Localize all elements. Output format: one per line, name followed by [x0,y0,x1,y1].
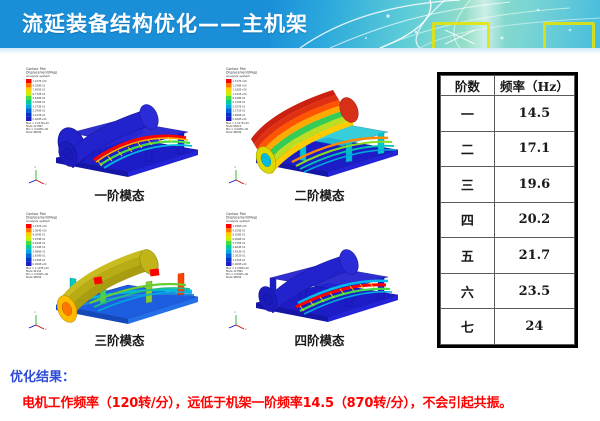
fea-plot-mode-3: Contour Plot Displacement(Mag) Analysis … [22,207,217,332]
frequency-table-grid: 阶数 频率（Hz） 一 14.5 二 17.1 三 19.6 四 20.2 五 [440,75,575,345]
svg-text:4.604E-01: 4.604E-01 [233,245,246,249]
svg-text:0.000E+00: 0.000E+00 [233,117,247,121]
cell-frequency: 14.5 [494,96,574,132]
cell-frequency: 21.7 [494,238,574,274]
svg-text:9.309E-01: 9.309E-01 [33,233,46,237]
svg-text:3.453E-01: 3.453E-01 [233,249,246,253]
svg-text:z: z [235,166,237,169]
svg-text:5.755E-01: 5.755E-01 [233,241,246,245]
svg-text:5.319E-01: 5.319E-01 [33,245,46,249]
svg-text:0.000E+00: 0.000E+00 [233,262,247,266]
svg-text:6.906E-01: 6.906E-01 [233,237,246,241]
figure-caption-mode-2: 二阶模态 [262,185,377,204]
fea-figure-mode-2: Contour Plot Displacement(Mag) Analysis … [222,62,417,187]
cell-frequency: 17.1 [494,131,574,167]
svg-text:x: x [45,328,47,331]
svg-text:1.036E+00: 1.036E+00 [233,224,247,228]
frequency-table: 阶数 频率（Hz） 一 14.5 二 17.1 三 19.6 四 20.2 五 [437,72,578,348]
svg-text:Node 98099: Node 98099 [226,130,242,134]
machine-frame-mode-4 [255,247,398,322]
svg-text:Analysis system: Analysis system [226,219,250,223]
axis-triad-mode-3: z x [29,311,47,331]
fea-plot-mode-2: Contour Plot Displacement(Mag) Analysis … [222,62,417,187]
svg-text:z: z [35,311,37,314]
contour-legend-mode-3: Contour Plot Displacement(Mag) Analysis … [26,212,57,279]
cell-order: 三 [441,167,495,203]
axis-triad-mode-2: z x [229,166,247,186]
svg-text:0.000E+00: 0.000E+00 [33,117,47,121]
figure-caption-mode-4: 四阶模态 [262,330,377,349]
table-row: 六 23.5 [441,273,575,309]
svg-text:x: x [245,328,247,331]
cell-order: 六 [441,273,495,309]
svg-text:5.057E-01: 5.057E-01 [233,104,246,108]
table-row: 二 17.1 [441,131,575,167]
table-row: 一 14.5 [441,96,575,132]
header-yellow-frame-2-icon [543,22,595,48]
figure-caption-mode-1: 一阶模态 [62,185,177,204]
cell-frequency: 19.6 [494,167,574,203]
fea-plot-mode-4: Contour Plot Displacement(Mag) Analysis … [222,207,417,332]
svg-text:3.989E-01: 3.989E-01 [33,249,46,253]
svg-text:8.428E-01: 8.428E-01 [233,96,246,100]
svg-text:3.373E-01: 3.373E-01 [33,104,46,108]
contour-legend-mode-1: Contour Plot Displacement(Mag) Analysis … [26,67,57,134]
cell-order: 七 [441,309,495,345]
cell-order: 五 [441,238,495,274]
svg-text:Node 98099: Node 98099 [226,275,242,279]
fea-figure-mode-4: Contour Plot Displacement(Mag) Analysis … [222,207,417,332]
conclusion-text: 电机工作频率（120转/分），远低于机架一阶频率14.5（870转/分），不会引… [22,392,512,411]
svg-text:9.038E-01: 9.038E-01 [33,83,46,87]
svg-text:z: z [35,166,37,169]
svg-text:Node 98099: Node 98099 [26,275,42,279]
header-underline [0,48,600,54]
svg-text:9.209E-01: 9.209E-01 [233,228,246,232]
cell-frequency: 23.5 [494,273,574,309]
header-yellow-frame-1-icon [432,22,490,48]
contour-legend-mode-2: Contour Plot Displacement(Mag) Analysis … [226,67,257,134]
svg-text:6.772E-01: 6.772E-01 [33,92,46,96]
svg-text:1.017E+00: 1.017E+00 [33,79,47,83]
svg-text:Analysis system: Analysis system [26,74,50,78]
svg-text:1.197E+00: 1.197E+00 [33,224,47,228]
svg-text:1.180E+00: 1.180E+00 [233,88,247,92]
svg-text:7.979E-01: 7.979E-01 [33,237,46,241]
svg-text:4.506E-01: 4.506E-01 [33,100,46,104]
svg-text:3.371E-01: 3.371E-01 [233,109,246,113]
svg-text:2.240E-01: 2.240E-01 [33,109,46,113]
fea-plot-mode-1: Contour Plot Displacement(Mag) Analysis … [22,62,217,187]
cell-order: 一 [441,96,495,132]
contour-legend-mode-4: Contour Plot Displacement(Mag) Analysis … [226,212,257,279]
svg-text:6.649E-01: 6.649E-01 [33,241,46,245]
svg-text:Node 98099: Node 98099 [26,130,42,134]
axis-triad-mode-4: z x [229,311,247,331]
table-row: 三 19.6 [441,167,575,203]
machine-frame-mode-2 [251,90,398,177]
cell-order: 四 [441,202,495,238]
cell-frequency: 24 [494,309,574,345]
table-row: 四 20.2 [441,202,575,238]
svg-text:2.302E-01: 2.302E-01 [233,254,246,258]
machine-frame-mode-1 [53,102,198,177]
svg-text:0.000E+00: 0.000E+00 [33,262,47,266]
page-header: 流延装备结构优化——主机架 [0,0,600,48]
table-row: 七 24 [441,309,575,345]
svg-text:7.905E-01: 7.905E-01 [33,88,46,92]
svg-text:1.064E+00: 1.064E+00 [33,228,47,232]
cell-frequency: 20.2 [494,202,574,238]
svg-text:8.058E-01: 8.058E-01 [233,233,246,237]
svg-text:1.151E-01: 1.151E-01 [233,258,246,262]
svg-text:1.686E-01: 1.686E-01 [233,113,246,117]
svg-text:1.517E+00: 1.517E+00 [233,79,247,83]
fea-figure-mode-1: Contour Plot Displacement(Mag) Analysis … [22,62,217,187]
table-header-row: 阶数 频率（Hz） [441,76,575,96]
svg-text:1.107E-01: 1.107E-01 [33,113,46,117]
machine-frame-mode-3 [53,247,198,326]
table-header-order: 阶数 [441,76,495,96]
svg-text:Analysis system: Analysis system [226,74,250,78]
table-row: 五 21.7 [441,238,575,274]
svg-text:6.742E-01: 6.742E-01 [233,100,246,104]
table-header-frequency: 频率（Hz） [494,76,574,96]
svg-text:2.659E-01: 2.659E-01 [33,254,46,258]
conclusion-label: 优化结果： [10,366,75,385]
svg-text:1.330E-01: 1.330E-01 [33,258,46,262]
axis-triad-mode-1: z x [29,166,47,186]
svg-text:1.011E+00: 1.011E+00 [233,92,247,96]
svg-text:x: x [245,183,247,186]
figure-caption-mode-3: 三阶模态 [62,330,177,349]
cell-order: 二 [441,131,495,167]
fea-figure-mode-3: Contour Plot Displacement(Mag) Analysis … [22,207,217,332]
page-title: 流延装备结构优化——主机架 [22,9,308,39]
svg-text:z: z [235,311,237,314]
svg-text:5.639E-01: 5.639E-01 [33,96,46,100]
svg-text:x: x [45,183,47,186]
svg-text:Analysis system: Analysis system [26,219,50,223]
svg-text:1.348E+00: 1.348E+00 [233,83,247,87]
